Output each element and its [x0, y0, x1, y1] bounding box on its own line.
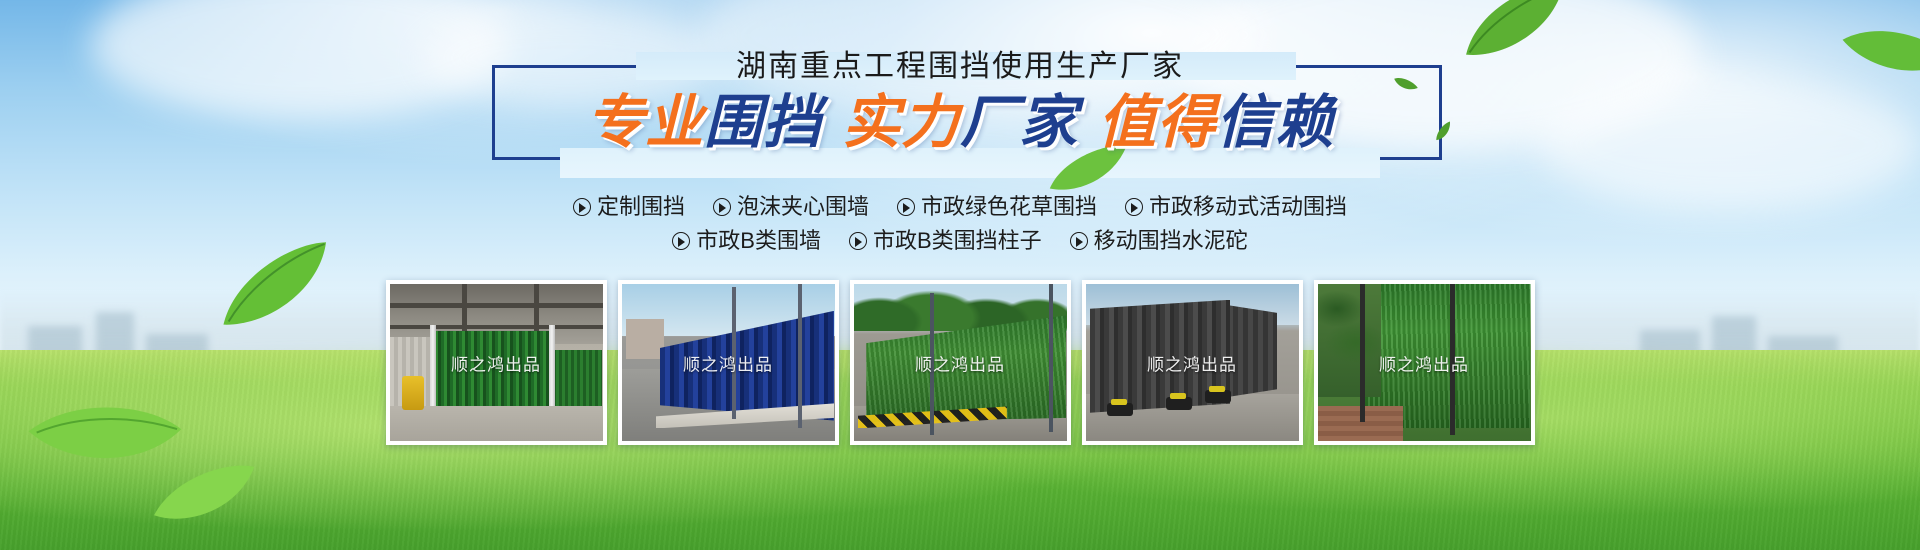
feature-item[interactable]: 市政绿色花草围挡 [897, 192, 1097, 222]
product-photo[interactable]: 顺之鸿出品 [618, 280, 839, 445]
feature-label: 定制围挡 [597, 192, 685, 222]
feature-item[interactable]: 泡沫夹心围墙 [713, 192, 869, 222]
play-circle-icon [897, 198, 915, 216]
hero-banner: 湖南重点工程围挡使用生产厂家 专业围挡实力厂家值得信赖 定制围挡 泡沫夹心围墙 … [0, 0, 1920, 550]
feature-item[interactable]: 移动围挡水泥砣 [1070, 226, 1248, 256]
play-circle-icon [849, 232, 867, 250]
banner-subtitle: 湖南重点工程围挡使用生产厂家 [0, 51, 1920, 83]
feature-label: 市政B类围墙 [696, 226, 821, 256]
feature-item[interactable]: 市政B类围墙 [672, 226, 821, 256]
feature-item[interactable]: 市政B类围挡柱子 [849, 226, 1042, 256]
product-photo[interactable]: 顺之鸿出品 [1314, 280, 1535, 445]
feature-item[interactable]: 定制围挡 [573, 192, 685, 222]
headline-part-4: 厂家 [960, 90, 1078, 155]
feature-label: 市政B类围挡柱子 [873, 226, 1042, 256]
banner-subtitle-text: 湖南重点工程围挡使用生产厂家 [720, 50, 1200, 83]
headline-part-3: 实力 [842, 90, 960, 155]
product-photo-strip: 顺之鸿出品 顺之鸿出品 顺之鸿出品 [0, 280, 1920, 470]
feature-label: 泡沫夹心围墙 [737, 192, 869, 222]
play-circle-icon [1125, 198, 1143, 216]
product-photo[interactable]: 顺之鸿出品 [1082, 280, 1303, 445]
feature-list: 定制围挡 泡沫夹心围墙 市政绿色花草围挡 市政移动式活动围挡 [0, 192, 1920, 260]
headline-block: 湖南重点工程围挡使用生产厂家 专业围挡实力厂家值得信赖 定制围挡 泡沫夹心围墙 … [0, 0, 1920, 280]
play-circle-icon [672, 232, 690, 250]
feature-row-2: 市政B类围墙 市政B类围挡柱子 移动围挡水泥砣 [0, 226, 1920, 256]
product-photo[interactable]: 顺之鸿出品 [850, 280, 1071, 445]
play-circle-icon [573, 198, 591, 216]
play-circle-icon [1070, 232, 1088, 250]
product-photo[interactable]: 顺之鸿出品 [386, 280, 607, 445]
feature-item[interactable]: 市政移动式活动围挡 [1125, 192, 1347, 222]
banner-headline: 专业围挡实力厂家值得信赖 [0, 92, 1920, 154]
headline-part-1: 专业 [586, 90, 704, 155]
feature-label: 移动围挡水泥砣 [1094, 226, 1248, 256]
headline-part-6: 信赖 [1216, 90, 1334, 155]
feature-label: 市政绿色花草围挡 [921, 192, 1097, 222]
feature-row-1: 定制围挡 泡沫夹心围墙 市政绿色花草围挡 市政移动式活动围挡 [0, 192, 1920, 222]
play-circle-icon [713, 198, 731, 216]
headline-part-2: 围挡 [704, 90, 822, 155]
feature-label: 市政移动式活动围挡 [1149, 192, 1347, 222]
headline-part-5: 值得 [1098, 90, 1216, 155]
